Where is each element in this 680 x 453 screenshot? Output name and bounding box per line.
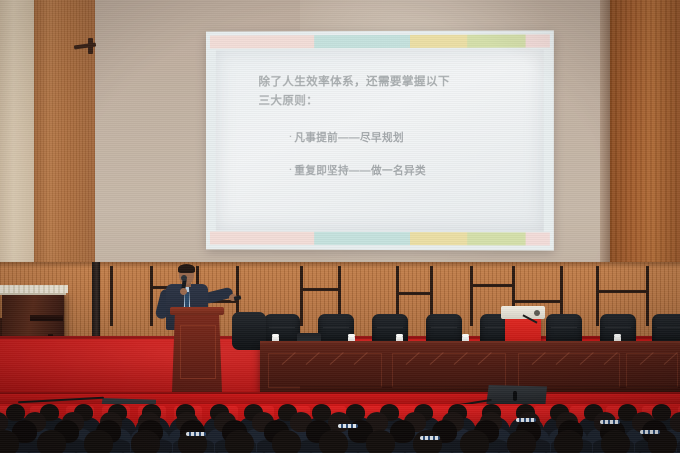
wall-frame-rail: [396, 292, 430, 295]
stage-monitor-right-port-icon: [513, 391, 517, 401]
audience-head: [37, 430, 66, 453]
uniform-scarf: [338, 424, 358, 428]
slide-bullet-text: 重复即坚持——做一名异类: [294, 165, 426, 177]
audience-head: [413, 430, 442, 453]
audience-head: [6, 404, 25, 421]
left-beige-wall-strip: [0, 0, 34, 300]
slide-top-band-segment: [410, 35, 468, 48]
wall-frame-post: [300, 266, 303, 326]
slide-canvas: 除了人生效率体系，还需要掌握以下 三大原则： ·凡事提前——尽早规划 ·重复即坚…: [216, 50, 544, 232]
audience-head: [328, 412, 350, 432]
projector-lens-icon: [534, 310, 540, 316]
table-panel: [392, 353, 506, 388]
stage-edge-line: [0, 392, 680, 394]
audience-head: [225, 430, 254, 453]
slide-top-band-segment: [468, 35, 526, 48]
uniform-scarf: [420, 436, 440, 440]
speaker-tie: [185, 292, 189, 308]
uniform-scarf: [600, 420, 620, 424]
audience-head: [319, 430, 348, 453]
wall-frame-post: [470, 266, 473, 326]
slide-title-line-2: 三大原则：: [258, 91, 528, 110]
wall-frame-rail: [470, 284, 512, 287]
audience-head: [601, 430, 630, 453]
speaker-hair: [178, 264, 195, 273]
lectern-top: [170, 307, 224, 315]
table-panel: [268, 353, 382, 388]
slide-bottom-band-segment: [526, 232, 550, 245]
slide-top-band-segment: [315, 35, 410, 48]
bullet-dot-icon: ·: [289, 165, 292, 174]
audience-head: [84, 430, 113, 453]
uniform-scarf: [640, 430, 660, 434]
slide-bullet-text: 凡事提前——尽早规划: [294, 132, 404, 144]
slide-top-color-band: [210, 34, 550, 48]
lectern-front-panel: [180, 325, 216, 379]
slide-title-line-1: 除了人生效率体系，还需要掌握以下: [258, 72, 528, 92]
slide-title: 除了人生效率体系，还需要掌握以下 三大原则：: [258, 72, 528, 111]
stage-pillar: [92, 262, 100, 344]
right-wood-panel: [610, 0, 680, 300]
slide-top-band-segment: [526, 34, 550, 47]
slide-bullet-list: ·凡事提前——尽早规划 ·重复即坚持——做一名异类: [289, 130, 539, 196]
wall-frame-post: [150, 266, 153, 326]
slide-bottom-band-segment: [210, 232, 315, 245]
slide-bullet-item: ·重复即坚持——做一名异类: [289, 163, 539, 178]
microphone-capsule-icon: [181, 275, 187, 281]
slide-bottom-band-segment: [315, 232, 410, 245]
uniform-scarf: [186, 432, 206, 436]
wall-frame-rail: [512, 300, 560, 303]
wall-frame-post: [596, 266, 599, 326]
audience-head: [507, 430, 536, 453]
piano-lace-cover: [0, 285, 68, 293]
slide-bottom-color-band: [210, 232, 550, 246]
wall-frame-post: [110, 266, 113, 326]
audience-head: [272, 430, 301, 453]
slide-top-band-segment: [210, 35, 315, 48]
audience-head: [366, 430, 395, 453]
slide-bullet-item: ·凡事提前——尽早规划: [289, 130, 539, 145]
bullet-dot-icon: ·: [289, 132, 292, 141]
audience-head: [652, 404, 671, 421]
piano-keyboard: [30, 315, 63, 321]
projection-screen: 除了人生效率体系，还需要掌握以下 三大原则： ·凡事提前——尽早规划 ·重复即坚…: [206, 30, 554, 250]
wall-bracket-post-icon: [88, 38, 93, 54]
wall-frame-post: [646, 266, 649, 326]
audience-head: [670, 412, 680, 432]
slide-bottom-band-segment: [468, 232, 526, 245]
audience-head: [460, 430, 489, 453]
speaker-left-hand: [180, 288, 187, 295]
wall-frame-rail: [596, 290, 646, 293]
wall-frame-rail: [300, 288, 338, 291]
audience-head: [131, 430, 160, 453]
table-panel: [518, 353, 620, 388]
audience-head: [554, 430, 583, 453]
slide-bottom-band-segment: [410, 232, 468, 245]
uniform-scarf: [516, 418, 536, 422]
lecture-hall-photo: 除了人生效率体系，还需要掌握以下 三大原则： ·凡事提前——尽早规划 ·重复即坚…: [0, 0, 680, 453]
